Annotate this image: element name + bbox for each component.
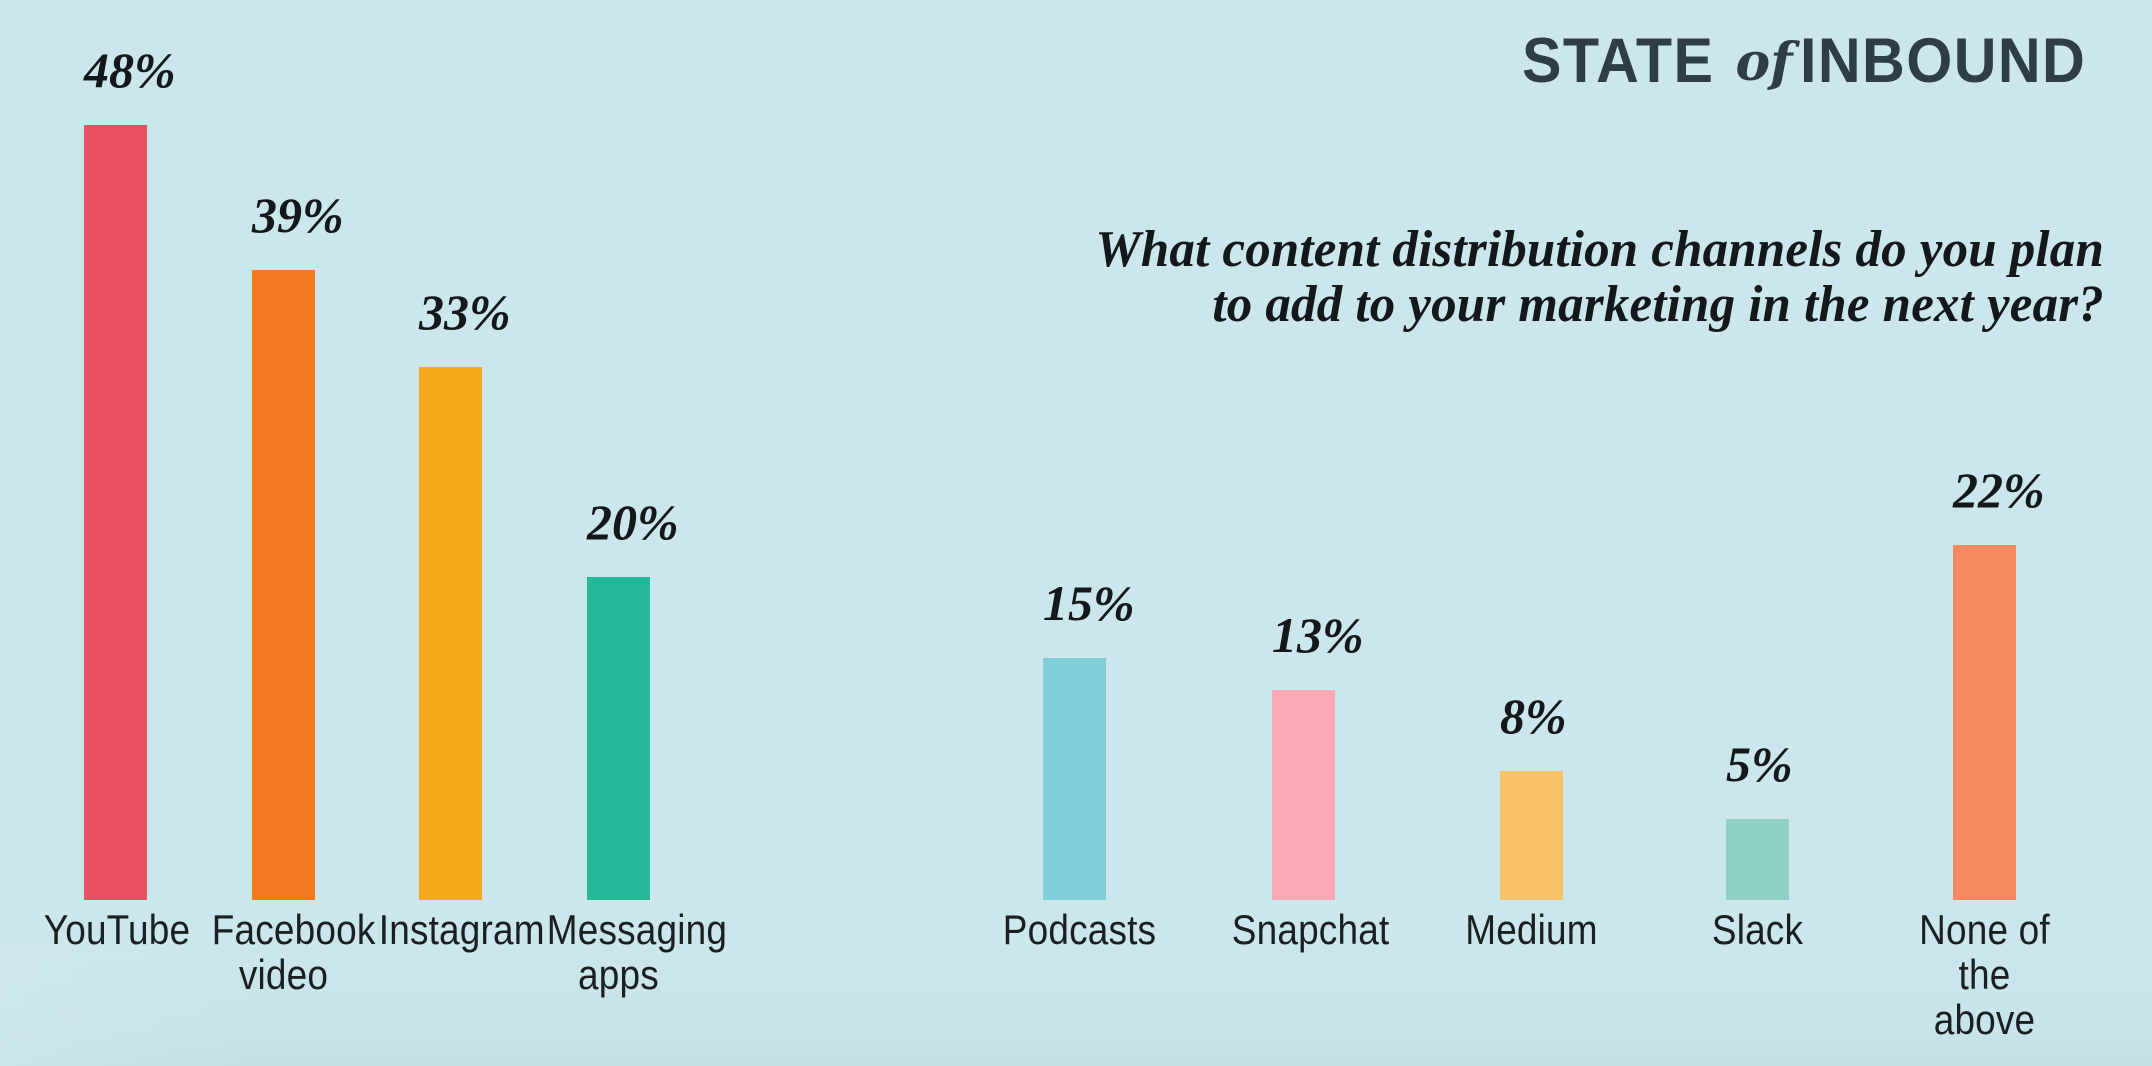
- bar-value-label: 5%: [1726, 739, 1789, 789]
- bar-value-label: 15%: [1043, 578, 1106, 628]
- bar-category-label-line: Facebook: [212, 908, 355, 953]
- bar[interactable]: [1500, 771, 1563, 900]
- bar-category-label: YouTube: [44, 908, 187, 953]
- bar-category-label: Snapchat: [1232, 908, 1375, 953]
- bar-category-label: Podcasts: [1003, 908, 1146, 953]
- bar-category-label: Medium: [1460, 908, 1603, 953]
- bar-value-label: 22%: [1953, 465, 2016, 515]
- bar-group: 15%Podcasts: [1043, 0, 1211, 900]
- bar-group: 33%Instagram: [419, 0, 587, 900]
- bar[interactable]: [419, 367, 482, 900]
- bar[interactable]: [1953, 545, 2016, 900]
- bar-category-label-line: apps: [547, 953, 690, 998]
- bar-category-label-line: video: [212, 953, 355, 998]
- bar-category-label: Facebookvideo: [212, 908, 355, 998]
- bar-category-label-line: Messaging: [547, 908, 690, 953]
- bar-category-label-line: Podcasts: [1003, 908, 1146, 953]
- bar-group: 20%Messagingapps: [587, 0, 755, 900]
- bar-group: 8%Medium: [1500, 0, 1668, 900]
- bar-category-label-line: Instagram: [379, 908, 522, 953]
- bar-group: 13%Snapchat: [1272, 0, 1440, 900]
- bar[interactable]: [1272, 690, 1335, 900]
- bar[interactable]: [1726, 819, 1789, 900]
- bar[interactable]: [1043, 658, 1106, 900]
- bar-category-label-line: Snapchat: [1232, 908, 1375, 953]
- bar-category-label-line: the above: [1913, 953, 2056, 1043]
- bar-value-label: 8%: [1500, 691, 1563, 741]
- bar-category-label-line: YouTube: [44, 908, 187, 953]
- bar-value-label: 33%: [419, 287, 482, 337]
- bar-group: 48%YouTube: [84, 0, 252, 900]
- bar[interactable]: [252, 270, 315, 900]
- bar-category-label: Slack: [1686, 908, 1829, 953]
- bar-category-label: Instagram: [379, 908, 522, 953]
- bar-group: 5%Slack: [1726, 0, 1894, 900]
- bar-value-label: 13%: [1272, 610, 1335, 660]
- bar-chart-plot-area: 48%YouTube39%Facebookvideo33%Instagram20…: [0, 0, 2152, 1066]
- chart-slide: STATEofINBOUND What content distribution…: [0, 0, 2152, 1066]
- bar-category-label-line: None of: [1913, 908, 2056, 953]
- bar-category-label-line: Slack: [1686, 908, 1829, 953]
- bar[interactable]: [84, 125, 147, 900]
- bar-category-label: None ofthe above: [1913, 908, 2056, 1043]
- bar[interactable]: [587, 577, 650, 900]
- bar-group: 22%None ofthe above: [1953, 0, 2121, 900]
- bar-value-label: 20%: [587, 497, 650, 547]
- bar-value-label: 48%: [84, 45, 147, 95]
- bar-category-label-line: Medium: [1460, 908, 1603, 953]
- bar-value-label: 39%: [252, 190, 315, 240]
- bar-category-label: Messagingapps: [547, 908, 690, 998]
- bar-group: 39%Facebookvideo: [252, 0, 420, 900]
